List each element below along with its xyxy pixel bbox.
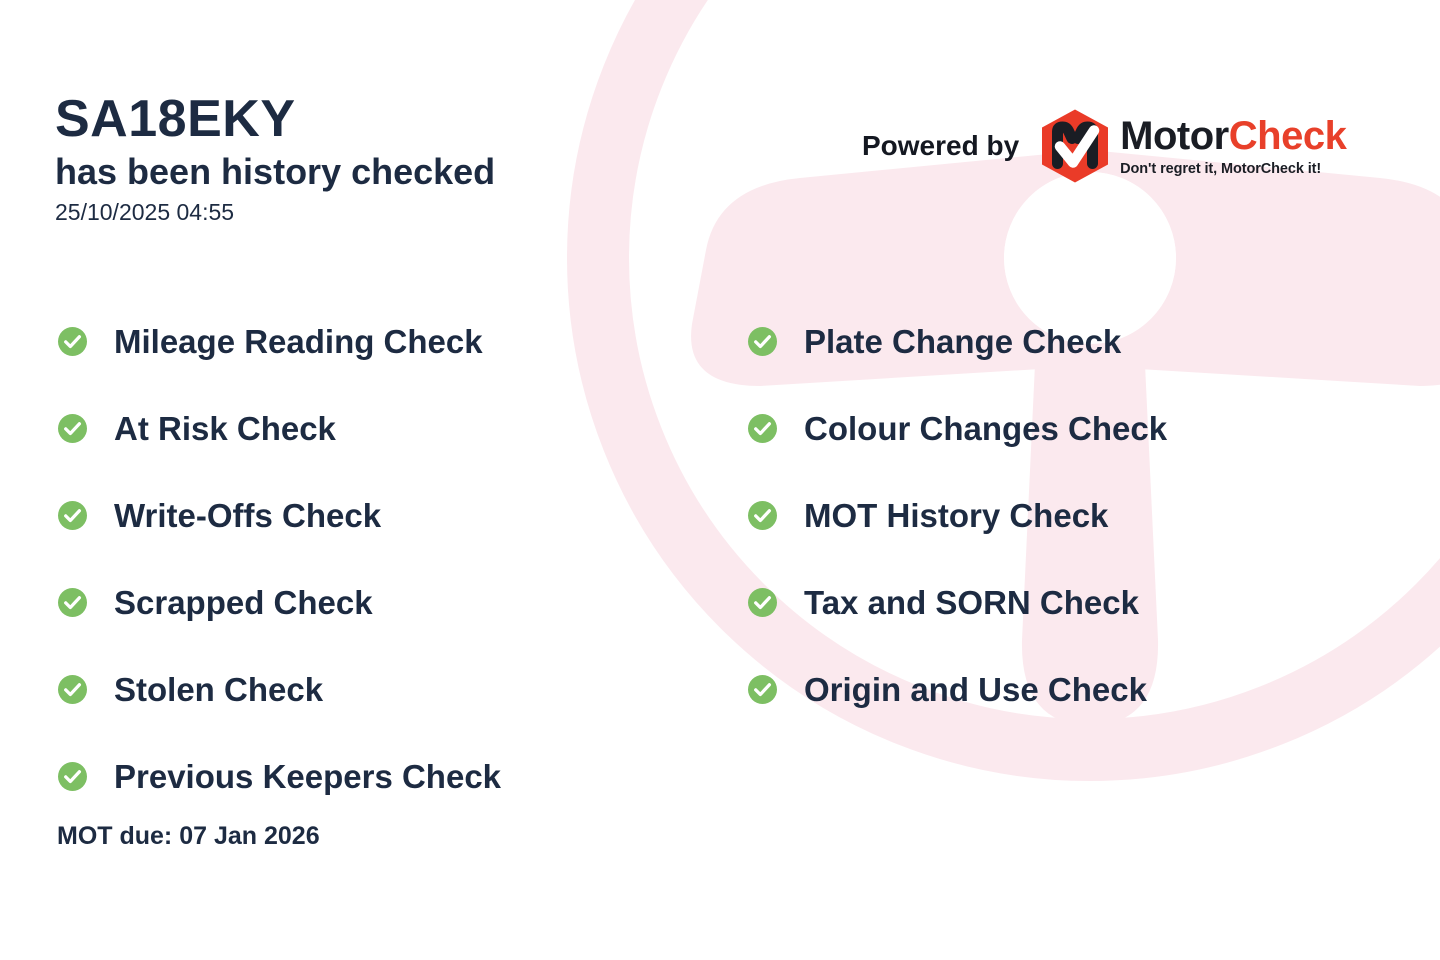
check-label: Mileage Reading Check xyxy=(114,325,483,358)
check-row: Scrapped Check xyxy=(58,559,501,646)
check-row: Tax and SORN Check xyxy=(748,559,1167,646)
logo-wordmark-block: MotorCheck Don't regret it, MotorCheck i… xyxy=(1120,116,1346,177)
green-check-circle-icon xyxy=(58,501,87,530)
check-row: Mileage Reading Check xyxy=(58,298,501,385)
check-timestamp: 25/10/2025 04:55 xyxy=(55,199,495,226)
green-check-circle-icon xyxy=(58,327,87,356)
logo-wordmark: MotorCheck xyxy=(1120,116,1346,156)
green-check-circle-icon xyxy=(58,414,87,443)
hexagon-shape xyxy=(1042,110,1108,183)
green-check-circle-icon xyxy=(748,327,777,356)
mot-due-text: MOT due: 07 Jan 2026 xyxy=(57,822,320,851)
check-row: Origin and Use Check xyxy=(748,646,1167,733)
green-check-circle-icon xyxy=(58,762,87,791)
powered-by-label: Powered by xyxy=(862,130,1019,162)
powered-by-block: Powered by MotorCheck Don't regret it, M… xyxy=(862,108,1346,184)
registration-plate: SA18EKY xyxy=(55,92,495,147)
green-check-circle-icon xyxy=(58,588,87,617)
green-check-circle-icon xyxy=(748,588,777,617)
check-row: Plate Change Check xyxy=(748,298,1167,385)
check-row: At Risk Check xyxy=(58,385,501,472)
check-row: Write-Offs Check xyxy=(58,472,501,559)
check-label: Tax and SORN Check xyxy=(804,586,1139,619)
check-row: MOT History Check xyxy=(748,472,1167,559)
check-label: Origin and Use Check xyxy=(804,673,1147,706)
check-label: Scrapped Check xyxy=(114,586,373,619)
check-row: Previous Keepers Check xyxy=(58,733,501,820)
check-label: Colour Changes Check xyxy=(804,412,1167,445)
check-label: Stolen Check xyxy=(114,673,323,706)
green-check-circle-icon xyxy=(58,675,87,704)
check-row: Stolen Check xyxy=(58,646,501,733)
check-label: Write-Offs Check xyxy=(114,499,381,532)
green-check-circle-icon xyxy=(748,501,777,530)
motorcheck-hexagon-icon xyxy=(1039,108,1111,184)
history-check-card: SA18EKY has been history checked 25/10/2… xyxy=(0,0,1440,960)
motorcheck-logo[interactable]: MotorCheck Don't regret it, MotorCheck i… xyxy=(1039,108,1346,184)
check-label: At Risk Check xyxy=(114,412,336,445)
logo-tagline: Don't regret it, MotorCheck it! xyxy=(1120,161,1346,177)
green-check-circle-icon xyxy=(748,675,777,704)
check-list-right: Plate Change CheckColour Changes CheckMO… xyxy=(748,298,1167,733)
check-list-left: Mileage Reading CheckAt Risk CheckWrite-… xyxy=(58,298,501,820)
green-check-circle-icon xyxy=(748,414,777,443)
logo-word-check: Check xyxy=(1229,114,1347,158)
page-title: has been history checked xyxy=(55,151,495,193)
check-row: Colour Changes Check xyxy=(748,385,1167,472)
header-block: SA18EKY has been history checked 25/10/2… xyxy=(55,92,495,226)
check-label: Previous Keepers Check xyxy=(114,760,501,793)
logo-word-motor: Motor xyxy=(1120,114,1229,158)
check-label: MOT History Check xyxy=(804,499,1108,532)
check-label: Plate Change Check xyxy=(804,325,1121,358)
